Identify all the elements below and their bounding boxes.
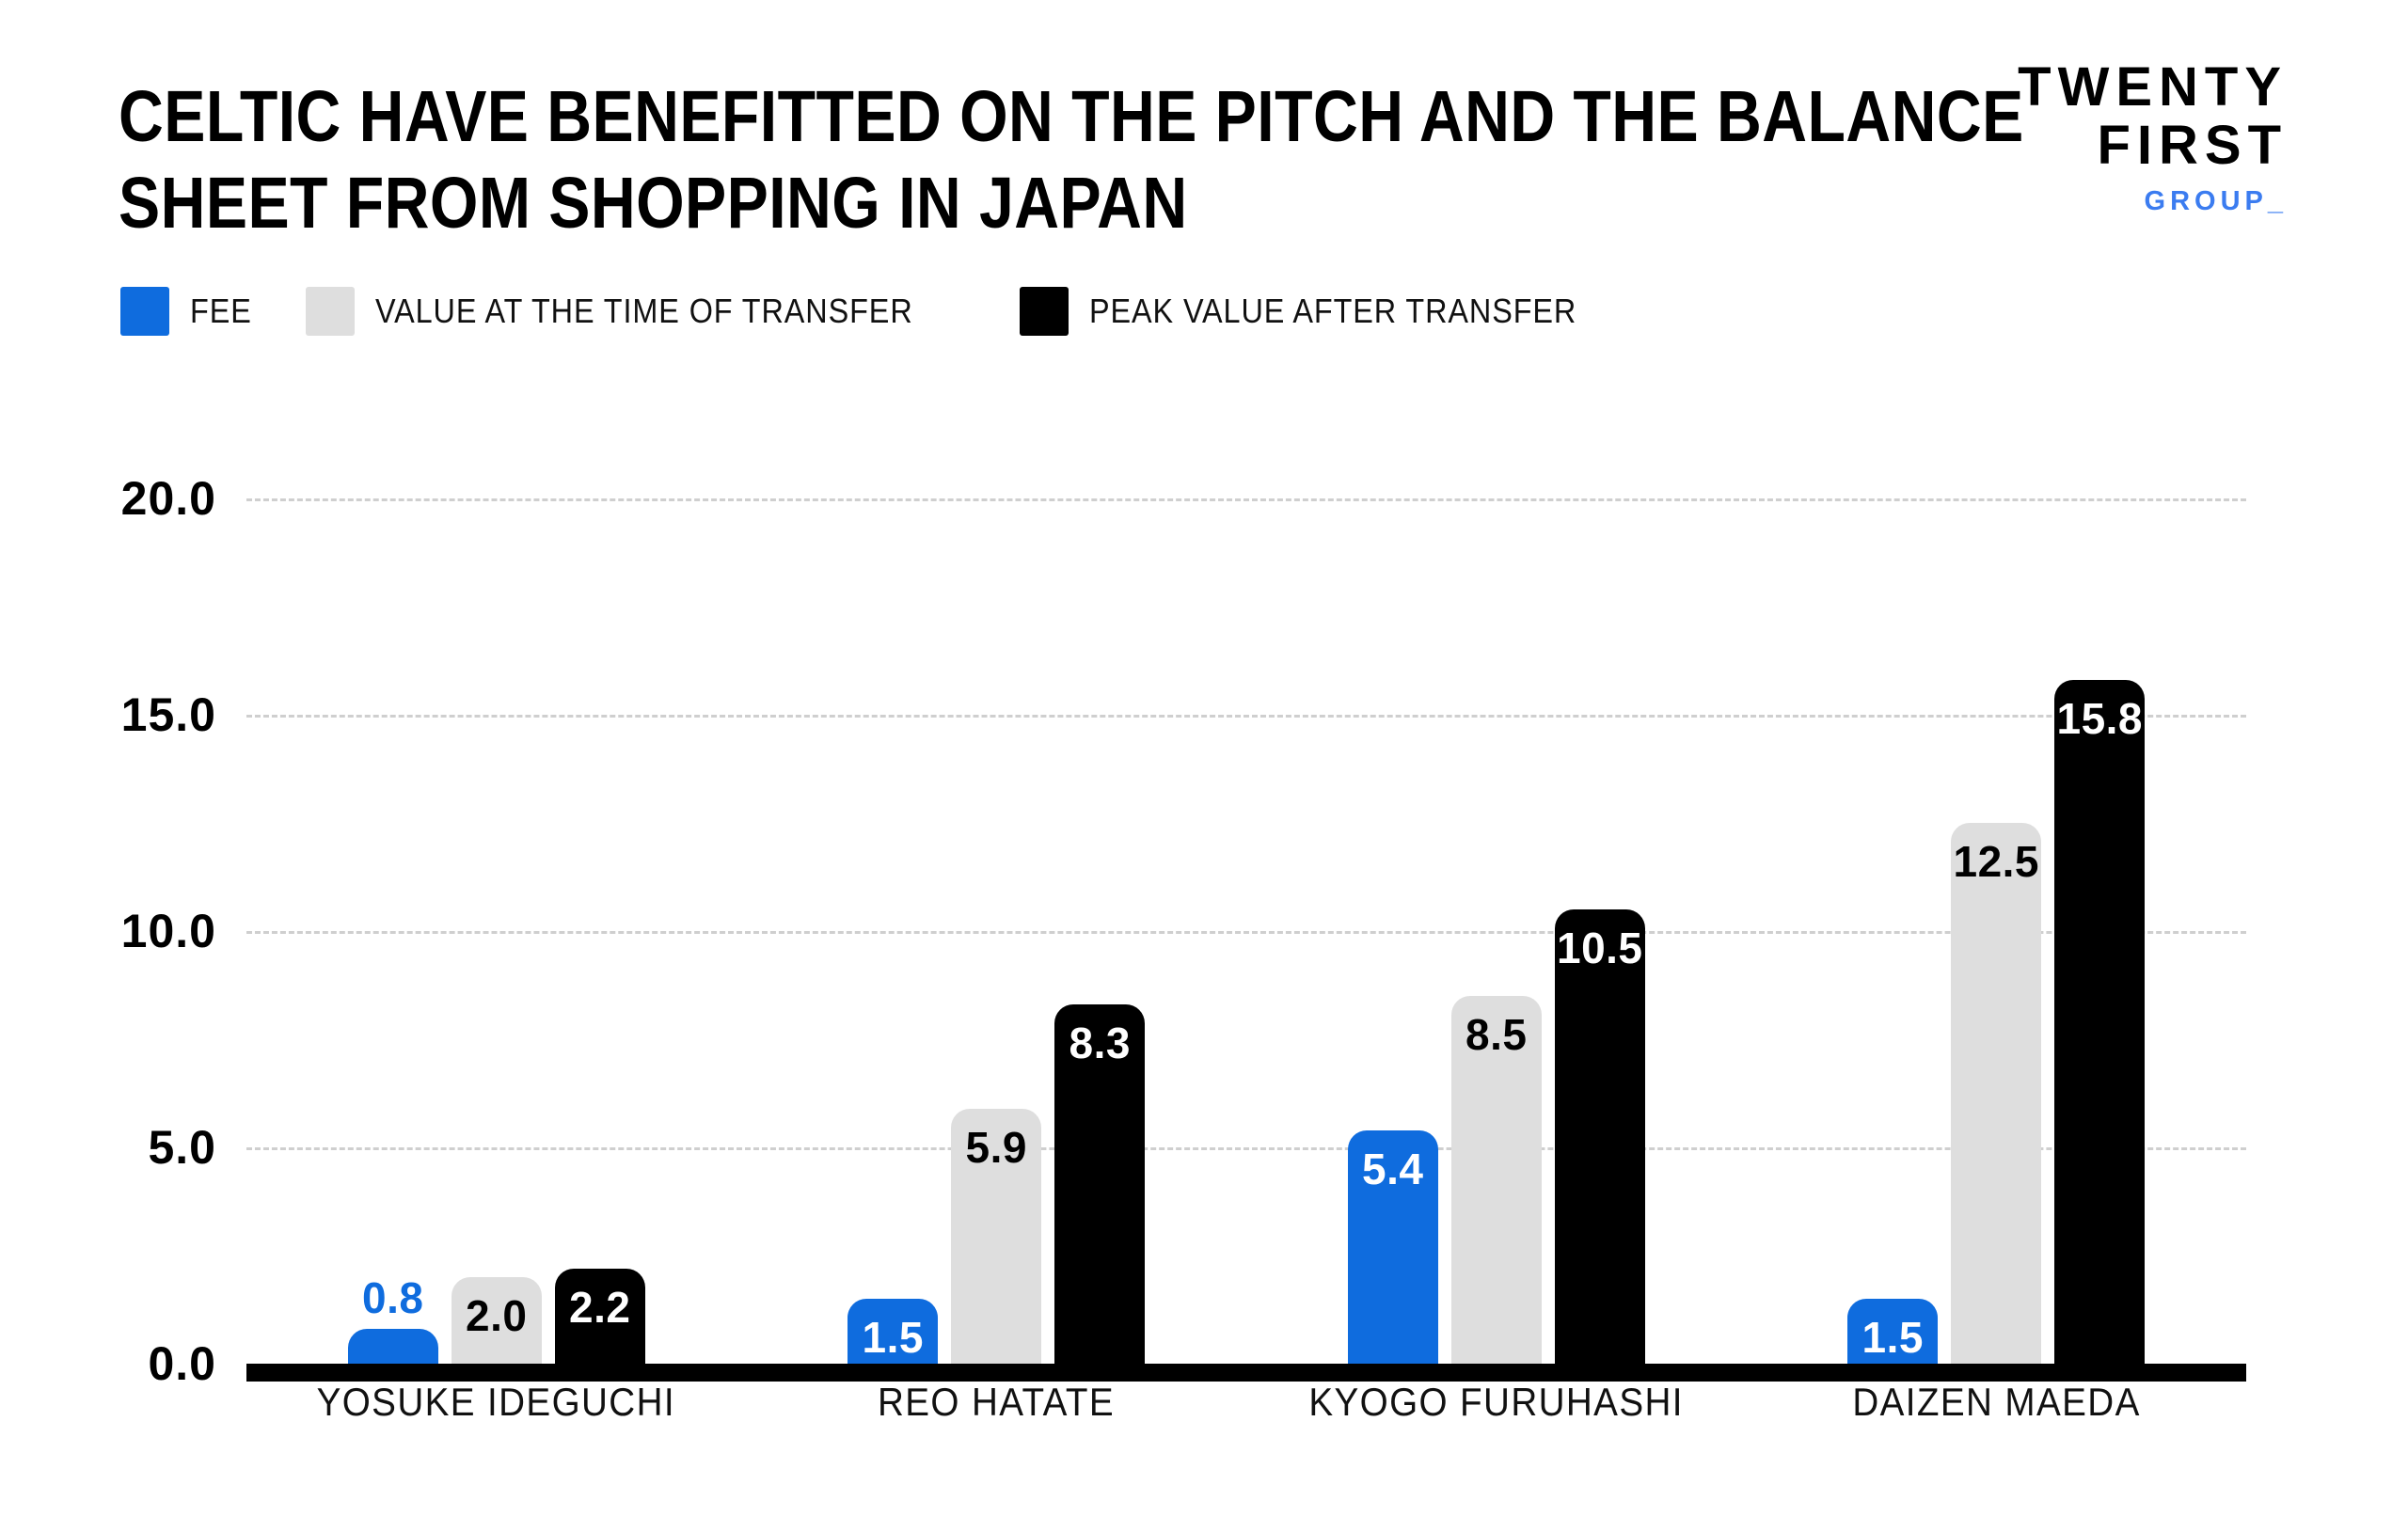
bar[interactable]: 2.2 [555,1269,645,1364]
bar[interactable]: 15.8 [2054,680,2145,1364]
bar-wrapper: 0.8 [348,1329,438,1364]
bar-wrapper: 2.0 [451,1277,542,1364]
bar-group-bars: 5.48.510.5 [1246,282,1747,1364]
bar-wrapper: 12.5 [1951,823,2041,1364]
bar-wrapper: 2.2 [555,1269,645,1364]
x-axis-category-label: YOSUKE IDEGUCHI [246,1380,747,1425]
bar[interactable]: 8.5 [1451,996,1542,1364]
bar[interactable]: 1.5 [1847,1299,1938,1364]
bar[interactable]: 1.5 [848,1299,938,1364]
bar-group-bars: 1.55.98.3 [747,282,1247,1364]
bar-value-label: 0.8 [329,1272,457,1323]
bar-group: 0.82.02.2YOSUKE IDEGUCHI [246,282,747,1364]
bar[interactable]: 5.4 [1348,1130,1438,1364]
bar[interactable]: 8.3 [1054,1004,1145,1364]
y-axis-tick-label: 10.0 [121,904,216,958]
bar-value-label: 12.5 [1951,836,2041,887]
bar-group-bars: 1.512.515.8 [1747,282,2247,1364]
y-axis-tick-label: 15.0 [121,687,216,742]
y-axis-tick-label: 5.0 [148,1120,216,1175]
bar-value-label: 2.0 [451,1290,542,1341]
bar-wrapper: 10.5 [1555,909,1645,1364]
bar-wrapper: 1.5 [1847,1299,1938,1364]
bar-wrapper: 8.3 [1054,1004,1145,1364]
bar-value-label: 8.5 [1451,1009,1542,1060]
bar-group: 5.48.510.5KYOGO FURUHASHI [1246,282,1747,1364]
bar-value-label: 8.3 [1054,1018,1145,1068]
bar-group-bars: 0.82.02.2 [246,282,747,1364]
bar-value-label: 2.2 [555,1282,645,1333]
bar[interactable]: 12.5 [1951,823,2041,1364]
bar-wrapper: 5.4 [1348,1130,1438,1364]
bar-value-label: 10.5 [1555,923,1645,973]
bar[interactable]: 5.9 [951,1109,1041,1364]
bar-value-label: 5.4 [1348,1144,1438,1194]
bar-wrapper: 15.8 [2054,680,2145,1364]
bar[interactable]: 10.5 [1555,909,1645,1364]
bar[interactable]: 2.0 [451,1277,542,1364]
bar-group: 1.512.515.8DAIZEN MAEDA [1747,282,2247,1364]
x-axis-category-label: KYOGO FURUHASHI [1246,1380,1747,1425]
x-axis-category-label: DAIZEN MAEDA [1747,1380,2247,1425]
bar-value-label: 15.8 [2054,693,2145,744]
bar[interactable]: 0.8 [348,1329,438,1364]
bar-groups: 0.82.02.2YOSUKE IDEGUCHI1.55.98.3REO HAT… [246,282,2246,1364]
bar-value-label: 5.9 [951,1122,1041,1173]
chart-plot-area: 0.05.010.015.020.0 0.82.02.2YOSUKE IDEGU… [0,0,2408,1532]
bar-group: 1.55.98.3REO HATATE [747,282,1247,1364]
x-axis-category-label: REO HATATE [747,1380,1247,1425]
bar-wrapper: 8.5 [1451,996,1542,1364]
bar-wrapper: 5.9 [951,1109,1041,1364]
bar-value-label: 1.5 [1847,1312,1938,1363]
y-axis-tick-label: 20.0 [121,471,216,526]
bar-value-label: 1.5 [848,1312,938,1363]
bar-wrapper: 1.5 [848,1299,938,1364]
y-axis-tick-label: 0.0 [148,1336,216,1391]
